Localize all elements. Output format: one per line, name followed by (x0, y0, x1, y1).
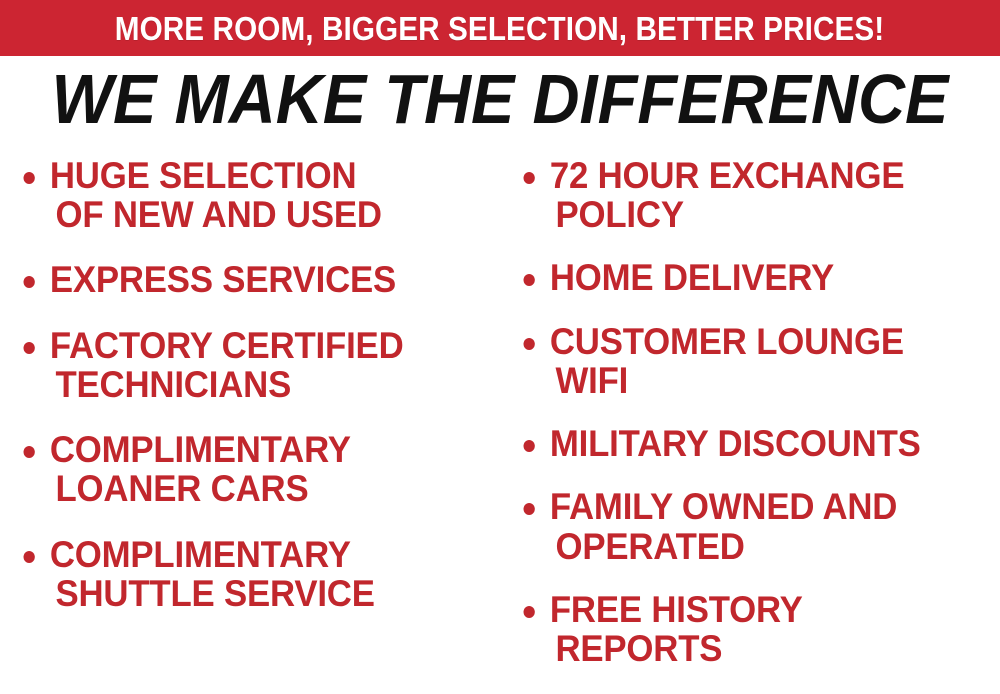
list-item: COMPLIMENTARY SHUTTLE SERVICE (16, 535, 471, 613)
bullet-dot-icon (24, 172, 35, 184)
list-item-line: LOANER CARS (50, 469, 471, 508)
list-item-line: FREE HISTORY (550, 590, 971, 629)
list-item: 72 HOUR EXCHANGE POLICY (516, 156, 971, 234)
list-item-line: MILITARY DISCOUNTS (550, 424, 971, 463)
bullet-dot-icon (524, 606, 535, 618)
features-column-left: HUGE SELECTION OF NEW AND USED EXPRESS S… (16, 156, 500, 686)
list-item-line: HUGE SELECTION (50, 156, 471, 195)
list-item-line: EXPRESS SERVICES (50, 260, 471, 299)
bullet-dot-icon (524, 503, 535, 515)
list-item-line: CUSTOMER LOUNGE (550, 322, 971, 361)
bullet-dot-icon (24, 276, 35, 288)
header-banner-band: MORE ROOM, BIGGER SELECTION, BETTER PRIC… (0, 0, 1000, 56)
list-item-line: 72 HOUR EXCHANGE (550, 156, 971, 195)
bullet-dot-icon (24, 342, 35, 354)
list-item-line: FAMILY OWNED AND (550, 487, 971, 526)
list-item: EXPRESS SERVICES (16, 260, 471, 299)
list-item-line: POLICY (550, 195, 971, 234)
list-item-line: FACTORY CERTIFIED (50, 326, 471, 365)
bullet-dot-icon (524, 172, 535, 184)
list-item: HUGE SELECTION OF NEW AND USED (16, 156, 471, 234)
bullet-dot-icon (524, 440, 535, 452)
list-item-line: TECHNICIANS (50, 365, 471, 404)
list-item-line: WIFI (550, 361, 971, 400)
bullet-dot-icon (524, 338, 535, 350)
bullet-dot-icon (24, 446, 35, 458)
features-column-right: 72 HOUR EXCHANGE POLICY HOME DELIVERY CU… (516, 156, 1000, 686)
list-item: FAMILY OWNED AND OPERATED (516, 487, 971, 565)
list-item-line: SHUTTLE SERVICE (50, 574, 471, 613)
list-item-line: COMPLIMENTARY (50, 535, 471, 574)
list-item: HOME DELIVERY (516, 258, 971, 297)
list-item: COMPLIMENTARY LOANER CARS (16, 430, 471, 508)
features-columns: HUGE SELECTION OF NEW AND USED EXPRESS S… (0, 156, 1000, 686)
list-item: CUSTOMER LOUNGE WIFI (516, 322, 971, 400)
list-item: FACTORY CERTIFIED TECHNICIANS (16, 326, 471, 404)
list-item: MILITARY DISCOUNTS (516, 424, 971, 463)
header-banner-text: MORE ROOM, BIGGER SELECTION, BETTER PRIC… (115, 12, 885, 45)
list-item-line: OPERATED (550, 527, 971, 566)
list-item-line: OF NEW AND USED (50, 195, 471, 234)
list-item-line: REPORTS (550, 629, 971, 668)
bullet-dot-icon (524, 274, 535, 286)
promotional-banner: MORE ROOM, BIGGER SELECTION, BETTER PRIC… (0, 0, 1000, 694)
list-item: FREE HISTORY REPORTS (516, 590, 971, 668)
bullet-dot-icon (24, 551, 35, 563)
list-item-line: COMPLIMENTARY (50, 430, 471, 469)
list-item-line: HOME DELIVERY (550, 258, 971, 297)
page-title: WE MAKE THE DIFFERENCE (35, 64, 965, 134)
